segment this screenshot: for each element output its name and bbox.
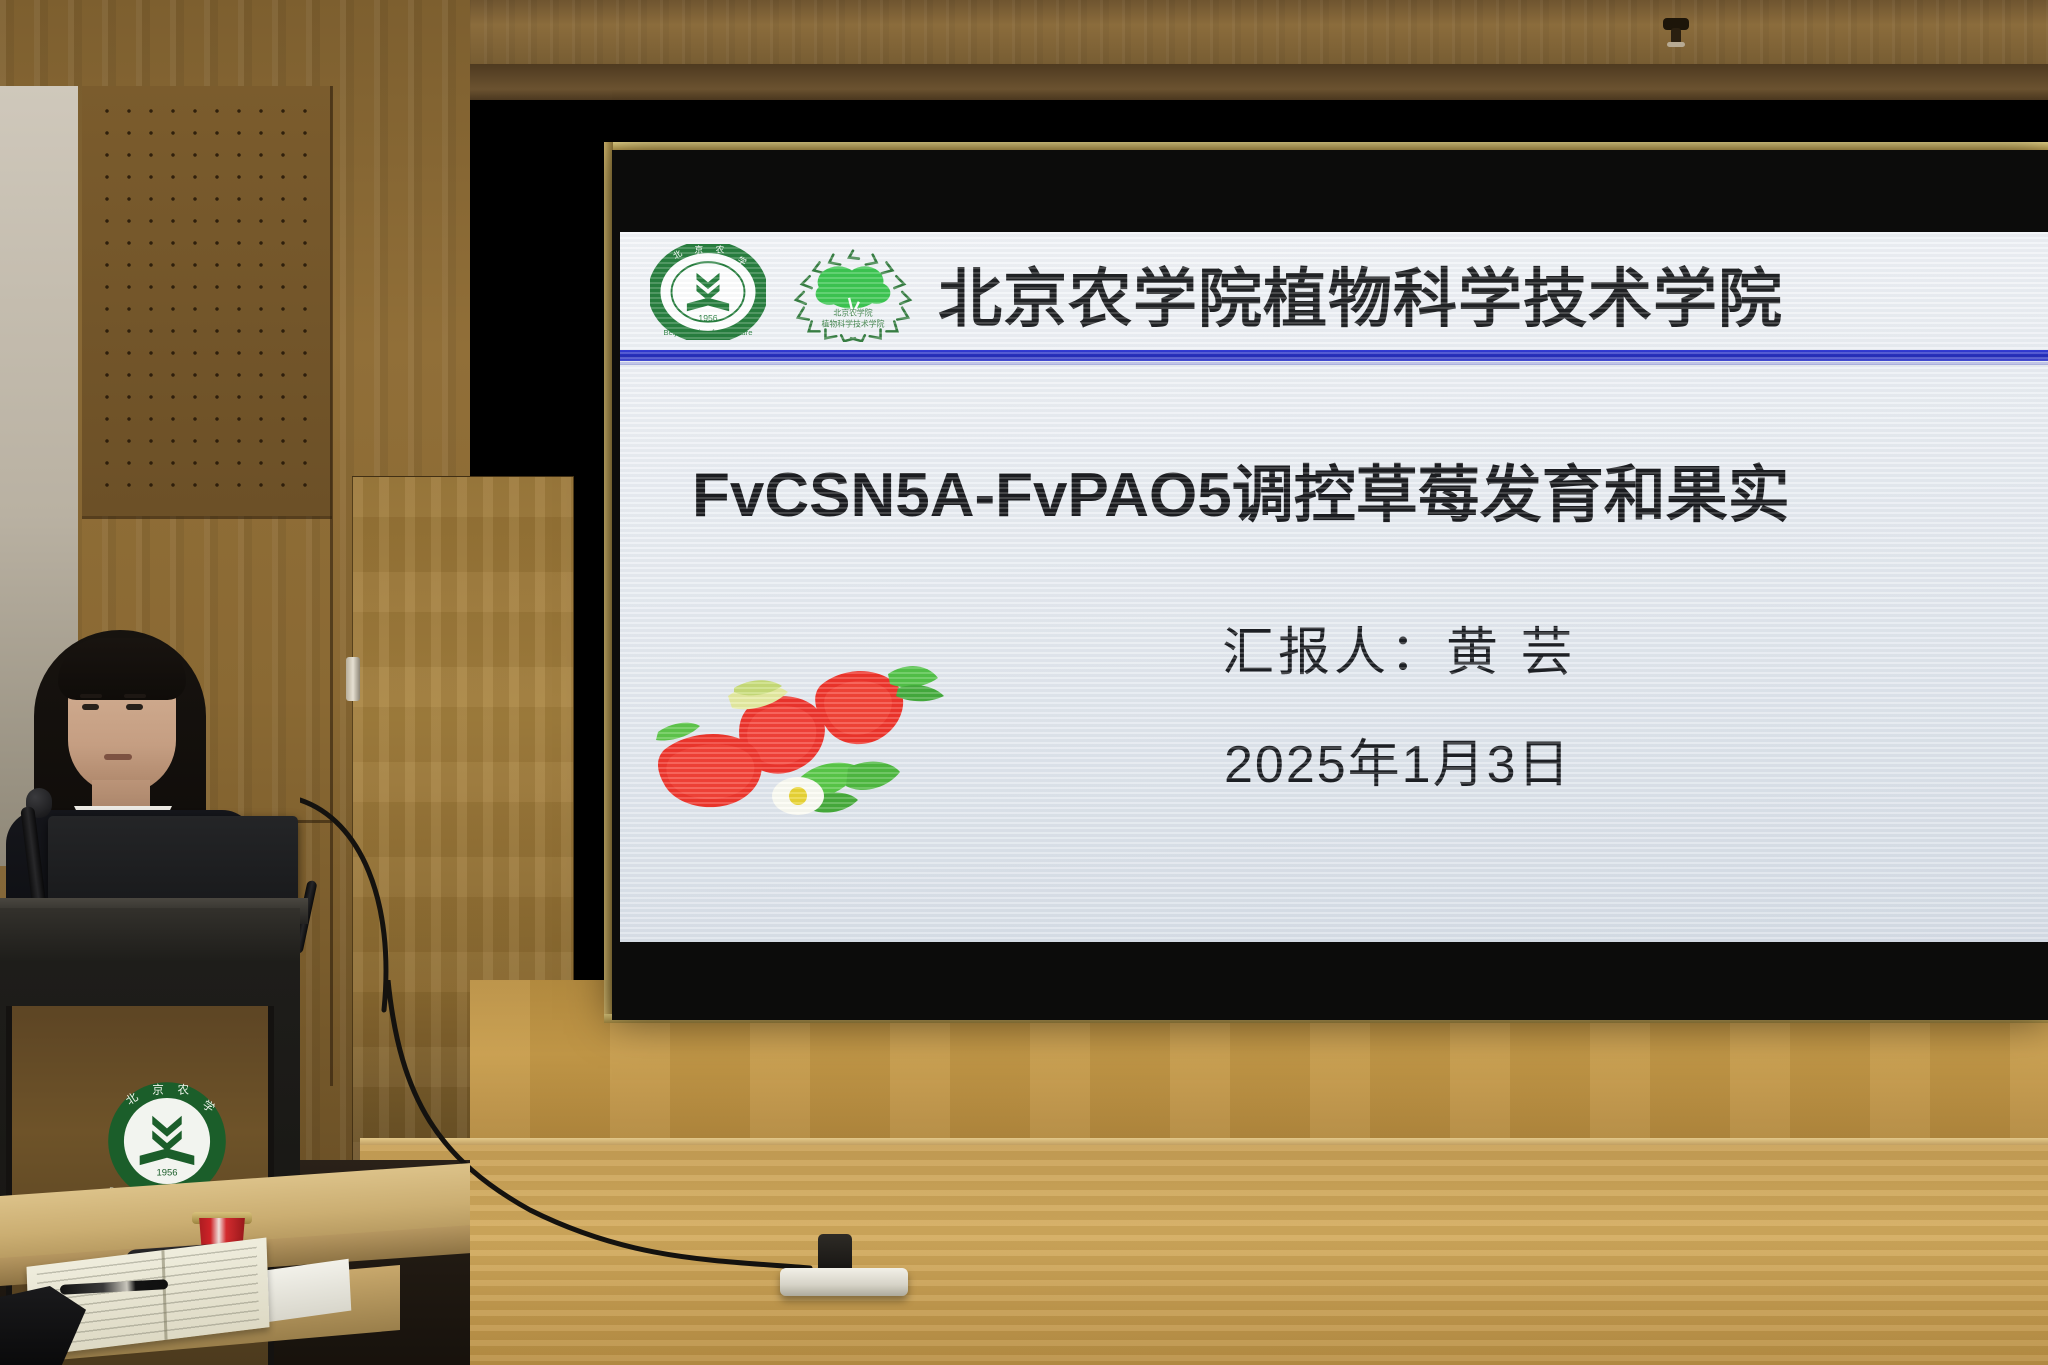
speaker-brow (124, 694, 146, 698)
svg-text:京: 京 (152, 1083, 164, 1097)
power-strip[interactable] (780, 1268, 908, 1296)
stage-floor (360, 1145, 2048, 1365)
speaker-mouth (104, 754, 132, 760)
speaker-eye (126, 704, 143, 710)
panel-seam (82, 516, 332, 519)
fire-sprinkler-icon (1663, 18, 1689, 52)
slide-presenter-line: 汇报人：黄 芸 (1222, 610, 1576, 685)
speaker-eye (82, 704, 99, 710)
acoustic-perforated-panel (82, 86, 332, 516)
floor-plank-grain (360, 1145, 2048, 1365)
college-emblem-icon: 北京农学院 植物科学技术学院 (792, 242, 914, 342)
header-blue-rule-shadow (620, 362, 2048, 365)
slide-header: 北 京 农 学 1956 Beijing Univ. of Agricultur… (620, 232, 2048, 350)
university-emblem-icon: 北 京 农 学 1956 Beijing Univ. of Agricultur… (650, 244, 766, 340)
svg-text:京: 京 (695, 244, 704, 256)
svg-text:1956: 1956 (698, 313, 717, 323)
door-hinge-icon (346, 657, 360, 701)
svg-text:1956: 1956 (157, 1168, 178, 1179)
slide-institution-title: 北京农学院植物科学技术学院 (938, 248, 1783, 340)
strawberry-photo (652, 644, 982, 834)
svg-text:北京农学院: 北京农学院 (833, 308, 872, 318)
header-blue-rule (620, 350, 2048, 361)
svg-text:植物科学技术学院: 植物科学技术学院 (822, 318, 885, 328)
slide-main-title: FvCSN5A-FvPAO5调控草莓发育和果实 (692, 444, 2048, 534)
svg-text:农: 农 (716, 244, 725, 256)
acoustic-panel-holes (96, 100, 318, 502)
speaker-brow (80, 694, 102, 698)
speaker-fringe (58, 638, 186, 700)
lecture-hall-photo: 北 京 农 学 1956 Beijing Univ. of Agricultur… (0, 0, 2048, 1365)
svg-text:Beijing Univ. of Agriculture: Beijing Univ. of Agriculture (664, 328, 753, 337)
panel-seam (330, 86, 333, 1086)
svg-text:农: 农 (178, 1083, 190, 1097)
slide-date-line: 2025年1月3日 (1224, 722, 1572, 797)
presentation-slide[interactable]: 北 京 农 学 1956 Beijing Univ. of Agricultur… (620, 232, 2048, 942)
